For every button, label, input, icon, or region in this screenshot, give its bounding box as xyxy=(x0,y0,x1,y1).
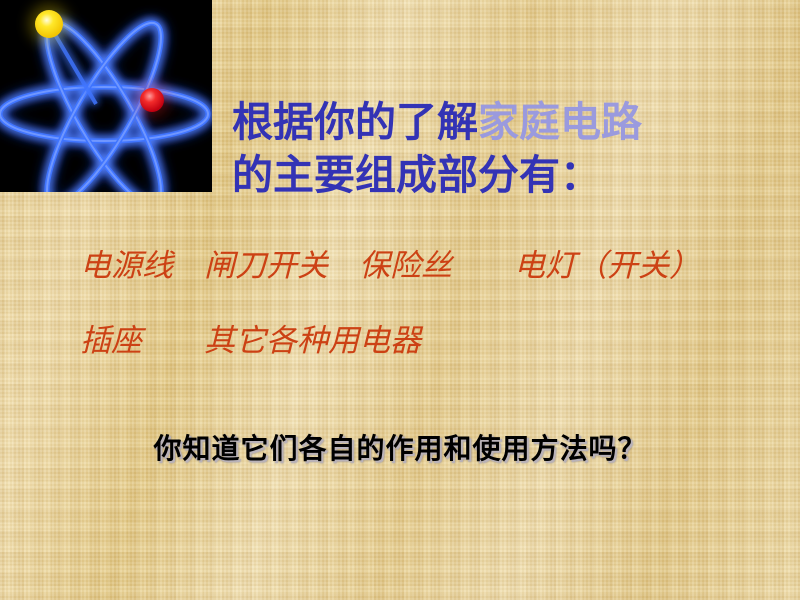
closing-question-text: 你知道它们各自的作用和使用方法吗？ xyxy=(153,432,646,465)
slide-title: 根据你的了解家庭电路 的主要组成部分有： xyxy=(232,96,788,202)
title-line-1: 根据你的了解家庭电路 xyxy=(232,96,788,149)
slide-canvas: 根据你的了解家庭电路 的主要组成部分有： 电源线 闸刀开关 保险丝 电灯（开关）… xyxy=(0,0,800,600)
title-highlight-term: 家庭电路 xyxy=(478,98,642,146)
atom-icon xyxy=(0,0,212,192)
title-line-2: 的主要组成部分有： xyxy=(232,149,788,202)
atom-illustration-image xyxy=(0,0,212,192)
title-line-1-prefix: 根据你的了解 xyxy=(232,98,478,146)
component-list-row-2: 插座 其它各种用电器 xyxy=(80,315,421,360)
component-list-row-1: 电源线 闸刀开关 保险丝 电灯（开关） xyxy=(80,240,700,285)
closing-question: 你知道它们各自的作用和使用方法吗？ xyxy=(0,432,800,466)
